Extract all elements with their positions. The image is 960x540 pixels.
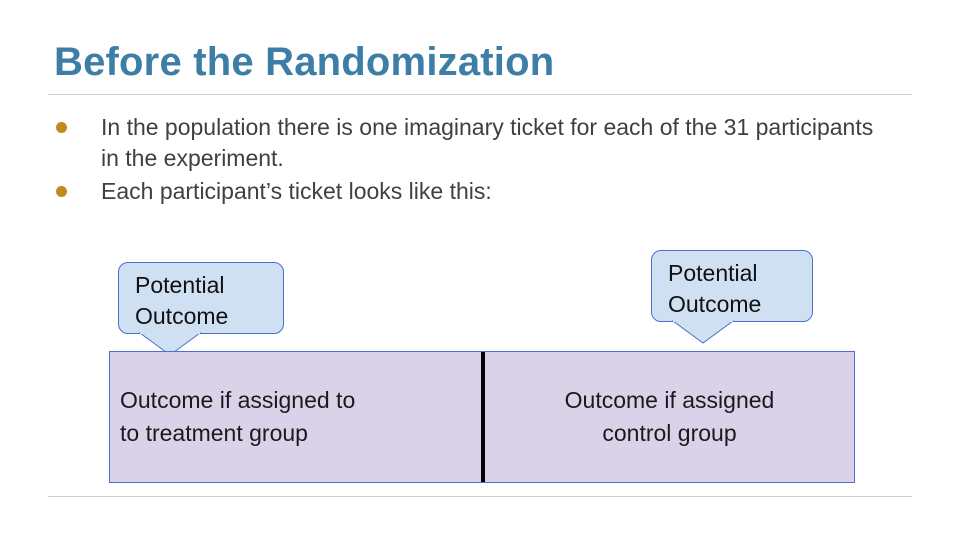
bullet-list: In the population there is one imaginary…: [56, 112, 916, 209]
callout-potential-outcome-right: Potential Outcome: [651, 250, 813, 322]
footer-divider: [48, 496, 912, 497]
title-divider: [48, 94, 912, 95]
bullet-dot-icon: [56, 186, 67, 197]
callout-line-1: Potential: [668, 258, 798, 289]
ticket-cell-control: Outcome if assigned control group: [485, 352, 854, 482]
callout-line-2: Outcome: [135, 301, 269, 332]
list-item-label: In the population there is one imaginary…: [101, 112, 891, 174]
list-item: Each participant’s ticket looks like thi…: [56, 176, 916, 207]
ticket-treatment-line-2: to treatment group: [120, 417, 308, 450]
ticket-treatment-line-1: Outcome if assigned to: [120, 384, 355, 417]
list-item: In the population there is one imaginary…: [56, 112, 916, 174]
callout-potential-outcome-left: Potential Outcome: [118, 262, 284, 334]
page-title: Before the Randomization: [54, 40, 914, 84]
slide-canvas: Before the Randomization In the populati…: [0, 0, 960, 540]
list-item-label: Each participant’s ticket looks like thi…: [101, 176, 492, 207]
ticket-cell-treatment: Outcome if assigned to to treatment grou…: [110, 352, 481, 482]
callout-tail-right-icon: [673, 321, 733, 347]
bullet-dot-icon: [56, 122, 67, 133]
ticket-control-line-2: control group: [602, 417, 736, 450]
ticket-diagram: Outcome if assigned to to treatment grou…: [109, 351, 855, 483]
ticket-control-line-1: Outcome if assigned: [565, 384, 775, 417]
callout-line-1: Potential: [135, 270, 269, 301]
callout-line-2: Outcome: [668, 289, 798, 320]
